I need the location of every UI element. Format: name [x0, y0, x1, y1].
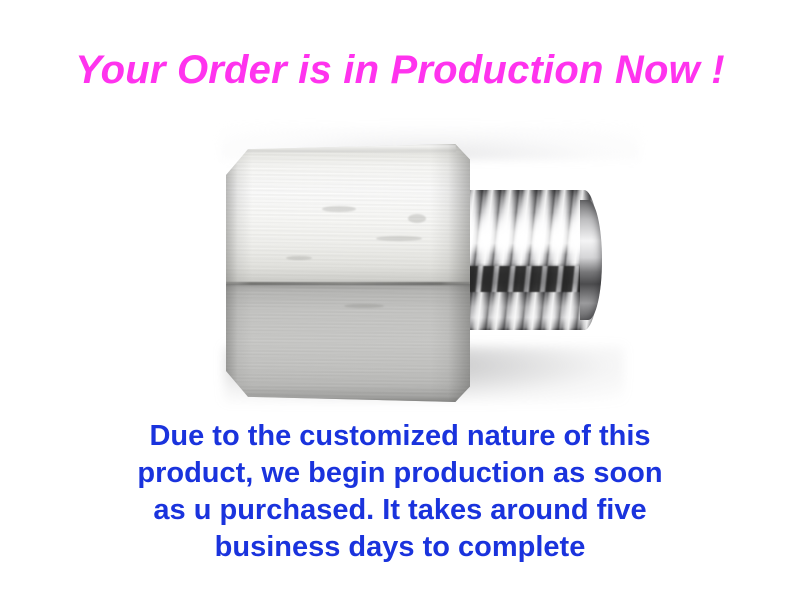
body-line: product, we begin production as soon	[60, 455, 740, 492]
body-line: as u purchased. It takes around five	[60, 492, 740, 529]
hex-body	[226, 144, 470, 402]
body-paragraph: Due to the customized nature of this pro…	[60, 418, 740, 566]
surface-scuff	[286, 256, 312, 260]
body-line: Due to the customized nature of this	[60, 418, 740, 455]
surface-scuff	[408, 214, 426, 223]
headline-text: Your Order is in Production Now !	[0, 48, 800, 93]
promo-image: Your Order is in Production Now !	[0, 0, 800, 600]
body-line: business days to complete	[60, 529, 740, 566]
hex-right-shading	[430, 144, 470, 402]
hex-left-chamfer-shading	[226, 144, 252, 402]
surface-scuff	[376, 236, 422, 241]
surface-scuff	[322, 206, 356, 212]
product-photo-hex-adapter	[180, 118, 640, 408]
surface-scuff	[344, 304, 384, 308]
